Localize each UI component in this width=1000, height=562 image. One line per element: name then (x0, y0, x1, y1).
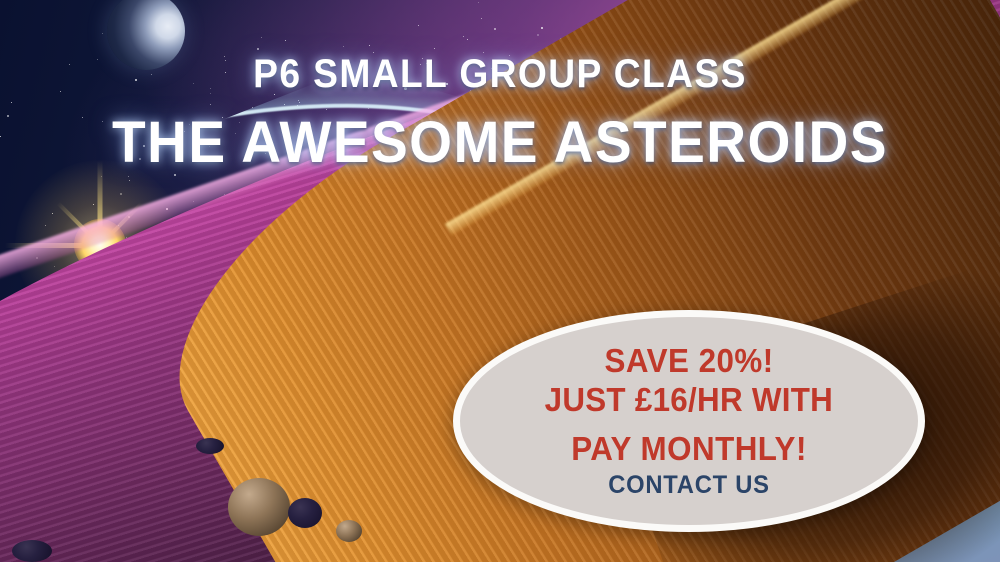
boulder (228, 478, 290, 536)
page-title: THE AWESOME ASTEROIDS (25, 109, 975, 176)
boulder (196, 438, 224, 454)
boulder (12, 540, 52, 562)
offer-save-line: SAVE 20%! (604, 344, 773, 378)
poster-canvas: P6 SMALL GROUP CLASS THE AWESOME ASTEROI… (0, 0, 1000, 562)
boulder (336, 520, 362, 542)
boulder (288, 498, 322, 528)
offer-badge[interactable]: SAVE 20%! JUST £16/HR WITH PAY MONTHLY! … (453, 310, 925, 532)
kicker-text: P6 SMALL GROUP CLASS (35, 52, 965, 97)
offer-price-line: JUST £16/HR WITH (545, 383, 834, 417)
contact-us-cta[interactable]: CONTACT US (608, 472, 770, 498)
offer-monthly-line: PAY MONTHLY! (571, 432, 807, 466)
